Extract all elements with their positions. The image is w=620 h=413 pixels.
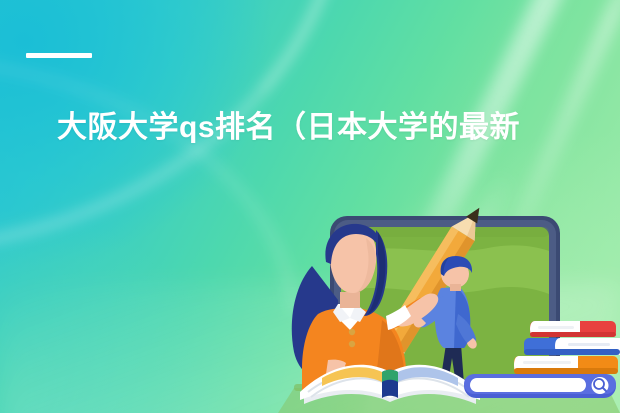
banner: 大阪大学qs排名（日本大学的最新 <box>0 0 620 413</box>
search-icon[interactable] <box>592 377 609 394</box>
book-red <box>530 321 616 337</box>
light-curve-left <box>0 25 298 343</box>
page-title: 大阪大学qs排名（日本大学的最新 <box>57 108 577 148</box>
book-orange <box>514 356 618 374</box>
student-learning-illustration <box>278 196 620 413</box>
search-bar[interactable] <box>464 374 616 398</box>
book-blue <box>524 338 620 355</box>
headline-accent-rule <box>26 53 92 58</box>
